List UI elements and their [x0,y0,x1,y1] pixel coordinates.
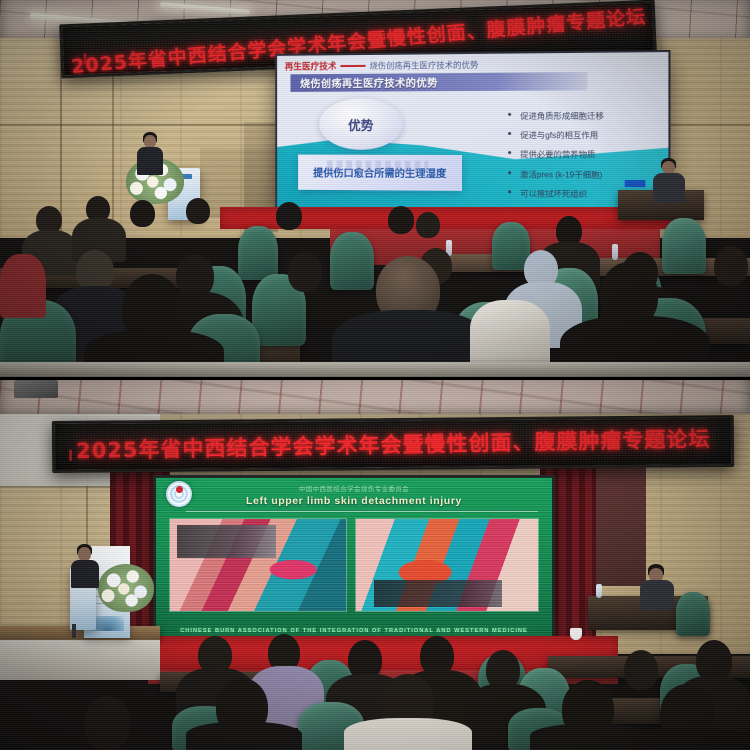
moderator-body [653,173,685,203]
paper-cup [570,628,582,640]
slide-highlight-box: 提供伤口愈合所需的生理湿度 [298,155,462,191]
slide-header-line: 再生医疗技术 [285,59,337,72]
moderator-bottom [638,564,674,608]
hall-floor [0,640,160,680]
slide-oval-label: 优势 [348,115,373,134]
audience-chair [238,226,278,280]
led-banner-text: 2025年省中西结合学会学术年会暨慢性创面、腹膜肿瘤专题论坛 [76,423,711,465]
audience-coat [470,300,550,368]
surgical-photo-left [170,519,346,611]
bottom-photograph: 2025年省中西结合学会学术年会暨慢性创面、腹膜肿瘤专题论坛 中国中西医结合学会… [0,378,750,750]
audience-head [130,200,155,227]
list-item: 激活pres (k-19干细胞) [508,168,668,181]
speaker-head [78,547,91,561]
audience-chair [662,218,706,274]
slide-organization-line: 中国中西医结合学会烧伤专业委员会 [156,483,552,493]
speaker-body [137,147,163,175]
audience-shoulders-front [186,722,302,750]
led-cursor [83,53,86,64]
list-item: 提供必要的营养物质 [508,148,668,161]
water-bottle [612,244,618,260]
flower-arrangement-bottom [98,564,154,612]
audience-head [624,650,658,690]
audience-head-front [84,696,130,750]
ceiling-projector [14,380,58,398]
audience-shoulders-front [626,728,750,750]
speaker-body [71,560,99,588]
front-desk-ledge [0,362,750,378]
podium-legs [72,624,76,638]
slide-title-bar-text: 烧伤创疡再生医疗技术的优势 [300,75,438,91]
audience-shoulders-front [344,718,472,750]
audience-head [388,206,414,234]
slide-footer-text: CHINESE BURN ASSOCIATION OF THE INTEGRAT… [156,628,552,634]
moderator-chair [676,592,710,636]
slide-title-rule [340,64,365,66]
top-photograph: 2025年省中西结合学会学术年会暨慢性创面、腹膜肿瘤专题论坛 再生医疗技术 烧伤… [0,0,750,378]
slide-oval-badge: 优势 [319,98,403,150]
moderator-body [640,580,674,610]
slide-title-bar: 烧伤创疡再生医疗技术的优势 [290,72,587,92]
slide-watermark-logo-icon [327,161,428,173]
moderator-top [652,158,686,200]
audience-head [416,212,440,238]
slide-title: Left upper limb skin detachment injury [156,495,552,507]
audience-head [276,202,302,230]
surgical-photo-right [356,519,538,611]
audience-head [186,198,210,224]
audience-head [288,252,322,292]
slide-top-title: 再生医疗技术 烧伤创疡再生医疗技术的优势 [285,58,479,73]
led-banner-bottom: 2025年省中西结合学会学术年会暨慢性创面、腹膜肿瘤专题论坛 [52,415,734,473]
list-item: 促进与gfs的相互作用 [508,129,668,141]
slide-header-subline: 烧伤创疡再生医疗技术的优势 [369,58,478,71]
audience-red-shirt [0,254,46,318]
water-bottle [596,584,602,598]
projection-screen-top: 再生医疗技术 烧伤创疡再生医疗技术的优势 烧伤创疡再生医疗技术的优势 优势 提供… [277,52,668,214]
slide-blue-marker [625,180,646,187]
audience-head [714,246,748,286]
led-cursor [69,450,72,461]
speaker-top [135,132,165,174]
audience-chair [330,232,374,290]
conference-photo-composite: 2025年省中西结合学会学术年会暨慢性创面、腹膜肿瘤专题论坛 再生医疗技术 烧伤… [0,0,750,750]
composite-seam [0,377,750,380]
projection-screen-bottom: 中国中西医结合学会烧伤专业委员会 Left upper limb skin de… [156,478,552,638]
slide-title-underline [186,511,538,512]
list-item: 促进角质形成细胞迁移 [508,109,668,122]
speaker-bottom [70,544,100,588]
